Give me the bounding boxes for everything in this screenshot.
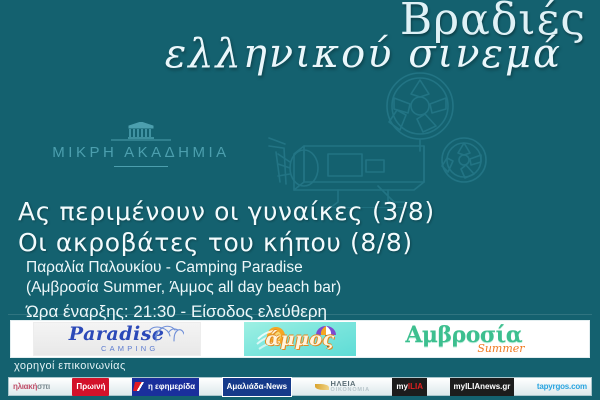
academy-name: ΜΙΚΡΗ ΑΚΑΔΗΜΙΑ [26, 144, 256, 161]
media-sponsor-strip: ηλιακή σπι Πρωινή η εφημερίδα Αμαλιάδα-N… [8, 377, 592, 396]
venue-location: Παραλία Παλουκίου - Camping Paradise [26, 258, 586, 278]
media-logo-iliaki-suffix: σπι [37, 383, 50, 391]
cinema-event-poster: Βραδιές ελληνικού σινεμά ΜΙΚΡΗ ΑΚΑΔΗΜΙΑ … [0, 0, 600, 400]
palm-tree-icon [144, 324, 184, 342]
film-list: Ας περιμένουν οι γυναίκες (3/8) Οι ακροβ… [18, 196, 588, 258]
media-logo-myilia-prefix: my [396, 383, 408, 391]
sponsor-logo-ammos[interactable]: άμμος [244, 322, 356, 356]
media-logo-myilia-suffix: ILIA [408, 383, 423, 391]
media-logo-myilianews[interactable]: myILIAnews.gr [450, 378, 515, 396]
sponsor-divider [8, 314, 592, 315]
film-title-2: Οι ακροβάτες του κήπου (8/8) [18, 227, 588, 258]
film-title-1: Ας περιμένουν οι γυναίκες (3/8) [18, 196, 588, 227]
media-logo-patris-name: η εφημερίδα [148, 383, 195, 391]
media-logo-amaliada-news[interactable]: Αμαλιάδα-News [222, 377, 293, 397]
page-subtitle: ελληνικού σινεμά [165, 34, 562, 74]
sponsor-logo-paradise[interactable]: Paradise CAMPING [33, 322, 201, 356]
media-logo-iliaki[interactable]: ηλιακή σπι [13, 380, 50, 394]
media-logo-ileia-oikonomia[interactable]: ΗΛΕΙΑ ΟΙΚΟΝΟΜΙΑ [315, 380, 370, 394]
paradise-tagline: CAMPING [101, 345, 158, 353]
ambrosia-tagline: Summer [477, 343, 524, 354]
media-logo-tapyrgos[interactable]: tapyrgos.com [537, 380, 587, 394]
flag-icon [133, 382, 147, 391]
academy-divider [114, 166, 168, 167]
academy-logo: ΜΙΚΡΗ ΑΚΑΔΗΜΙΑ [26, 122, 256, 167]
media-logo-ileia-suffix: ΟΙΚΟΝΟΜΙΑ [331, 388, 370, 394]
sponsor-strip: Paradise CAMPING άμμος Αμβροσία Summ [10, 320, 590, 358]
sponsor-logo-ambrosia[interactable]: Αμβροσία Summer [399, 322, 567, 356]
media-logo-proini[interactable]: Πρωινή [72, 378, 109, 396]
greek-temple-icon [111, 122, 171, 142]
ammos-wordmark: άμμος [265, 328, 334, 350]
media-sponsors-label: χορηγοί επικοινωνίας [14, 360, 126, 372]
media-logo-patris[interactable]: η εφημερίδα [132, 378, 199, 396]
media-logo-myilia[interactable]: my ILIA [392, 378, 427, 396]
film-projector-icon [268, 68, 508, 208]
venue-detail: (Αμβροσία Summer, Άμμος all day beach ba… [26, 278, 586, 298]
swoosh-icon [315, 384, 329, 390]
media-logo-iliaki-name: ηλιακή [13, 383, 37, 391]
